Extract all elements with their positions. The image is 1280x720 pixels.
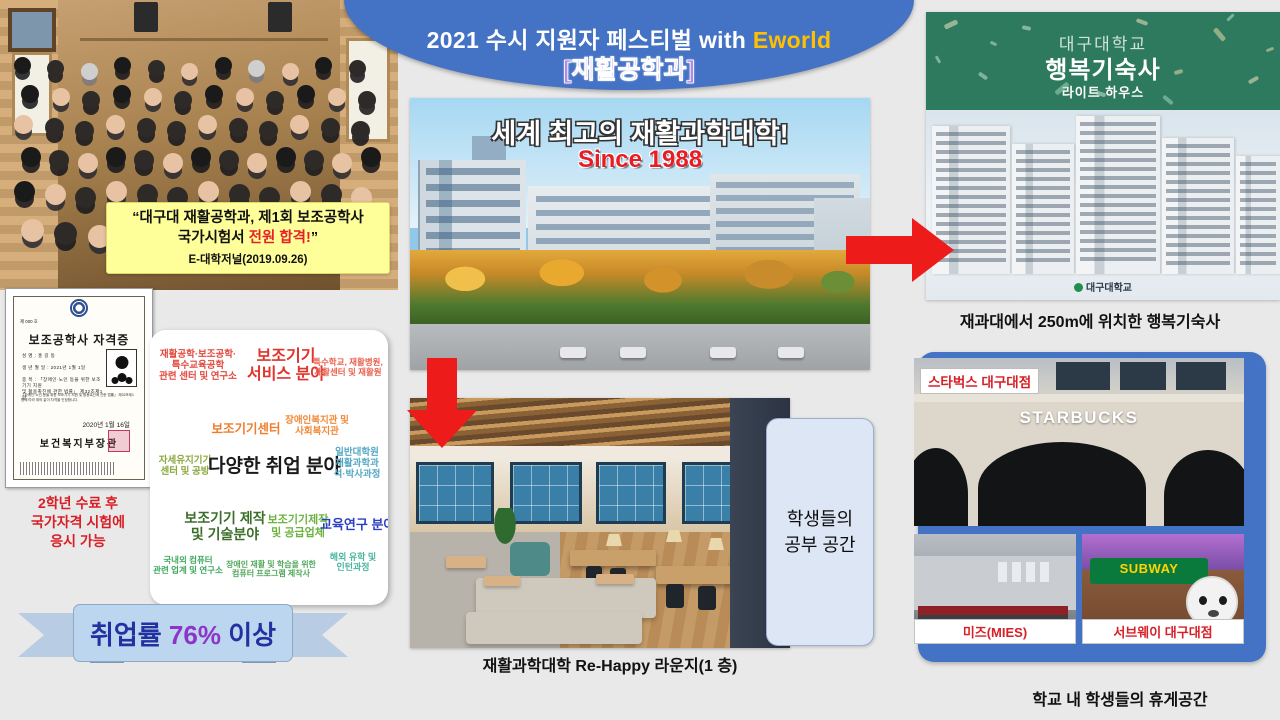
student-head <box>45 118 64 137</box>
government-emblem-icon <box>70 299 88 317</box>
student-head <box>144 88 162 106</box>
word-cloud-term: 장애인 재활 및 학습을 위한컴퓨터 프로그램 제작사 <box>216 560 326 578</box>
student-head <box>137 118 156 137</box>
news-quote-callout: “대구대 재활공학과, 제1회 보조공학사 국가시험서 전원 합격!” E-대학… <box>106 202 390 274</box>
student-head <box>290 115 309 134</box>
side-table <box>446 556 486 568</box>
dorm-tower <box>1076 116 1160 274</box>
quote-line-2-suffix: ” <box>311 230 318 246</box>
certificate-portrait <box>106 349 137 387</box>
certificate-caption: 2학년 수료 후국가자격 시험에응시 가능 <box>2 494 154 551</box>
student-head <box>259 121 278 140</box>
student-head <box>297 85 315 103</box>
student-head <box>181 63 198 80</box>
ribbon-band: 취업률 76% 이상 <box>73 604 293 662</box>
certificate-title: 보조공학사 자격증 <box>14 331 144 348</box>
student-head <box>266 91 284 109</box>
student-head <box>75 121 94 140</box>
word-cloud-term: 다양한 취업 분야 <box>208 456 330 478</box>
entry-arch <box>1164 450 1244 526</box>
student-head <box>167 121 186 140</box>
word-cloud-term: 교육연구 분야 <box>320 518 388 533</box>
student-head <box>106 181 127 202</box>
student-head <box>78 153 98 173</box>
student-head <box>361 147 381 167</box>
subway-sign-board: SUBWAY <box>1090 558 1208 584</box>
student-head <box>21 147 41 167</box>
student-head <box>198 115 217 134</box>
certificate-body: 제 000 호 보조공학사 자격증 성 명 : 홍 길 동생 년 월 일 : 2… <box>13 296 145 480</box>
student-head <box>82 91 100 109</box>
entry-arch <box>978 442 1146 526</box>
confetti-icon <box>944 19 959 29</box>
mies-window <box>1026 562 1035 582</box>
dorm-logo: 대구대학교 <box>926 279 1280 294</box>
dormitory-caption: 재과대에서 250m에 위치한 행복기숙사 <box>900 308 1280 332</box>
campus-photo: 세계 최고의 재활과학대학! Since 1988 <box>410 98 870 370</box>
upper-window <box>1176 362 1226 390</box>
mies-photo: 미즈(MIES) <box>914 534 1076 644</box>
arrow-right-icon <box>846 216 954 284</box>
study-space-label: 학생들의공부 공간 <box>766 418 874 646</box>
student-head <box>191 147 211 167</box>
starbucks-sign: STARBUCKS <box>914 408 1244 428</box>
quote-source: E-대학저널(2019.09.26) <box>188 251 307 267</box>
chair <box>698 586 716 610</box>
word-cloud-term: 해외 유학 및인턴과정 <box>322 552 384 573</box>
subway-photo: SUBWAY 서브웨이 대구대점 <box>1082 534 1244 644</box>
student-head <box>290 181 311 202</box>
word-cloud-term: 일반대학원재활과학과석·박사과정 <box>326 448 388 481</box>
student-head <box>81 63 98 80</box>
subway-label: 서브웨이 대구대점 <box>1082 619 1244 644</box>
lounge-window <box>510 462 582 524</box>
student-head <box>106 115 125 134</box>
mies-building <box>914 556 1076 610</box>
dorm-tower <box>1236 156 1280 274</box>
picture-frame <box>8 8 56 52</box>
student-head <box>321 118 340 137</box>
official-seal-icon <box>108 430 130 452</box>
title-prefix: 2021 수시 지원자 페스티벌 with <box>427 27 753 53</box>
student-head <box>174 91 192 109</box>
starbucks-label: 스타벅스 대구대점 <box>920 368 1039 394</box>
title-highlight: Eworld <box>753 27 831 53</box>
title-line-1: 2021 수시 지원자 페스티벌 with Eworld <box>427 26 832 55</box>
student-head <box>106 147 126 167</box>
side-table <box>484 576 520 586</box>
certificate-barcode <box>20 462 114 475</box>
word-cloud-term: 특수학교, 재활병원,재활센터 및 재활원 <box>308 358 388 378</box>
ribbon-suffix: 이상 <box>221 620 276 650</box>
student-head <box>304 150 324 170</box>
dorm-subtitle: 라이트 하우스 <box>926 82 1280 101</box>
student-head <box>236 88 254 106</box>
student-head <box>114 57 131 74</box>
university-logo-icon <box>1074 283 1083 292</box>
student-head <box>21 219 44 242</box>
mies-window <box>1012 562 1021 582</box>
certificate-image: 제 000 호 보조공학사 자격증 성 명 : 홍 길 동생 년 월 일 : 2… <box>5 288 153 488</box>
dormitory-banner: 대구대학교 행복기숙사 라이트 하우스 <box>926 12 1280 110</box>
student-head <box>349 60 366 77</box>
lounge-bench <box>466 612 642 644</box>
student-head <box>328 88 346 106</box>
entry-arch <box>914 448 968 526</box>
student-head <box>198 181 219 202</box>
confetti-icon <box>1226 13 1234 21</box>
stores-caption: 학교 내 학생들의 휴게공간 <box>960 686 1280 710</box>
student-head <box>113 85 131 103</box>
slide-title-banner: 2021 수시 지원자 페스티벌 with Eworld [재활공학과] <box>344 0 914 90</box>
student-head <box>247 153 267 173</box>
dormitory-photo: 대구대학교 <box>926 110 1280 300</box>
student-head <box>229 118 248 137</box>
student-head <box>219 150 239 170</box>
mies-window <box>1040 562 1049 582</box>
car <box>620 347 646 358</box>
student-head <box>45 184 66 205</box>
student-head <box>163 153 183 173</box>
student-head <box>47 60 64 77</box>
student-head <box>14 181 35 202</box>
title-line-2: [재활공학과] <box>563 55 695 86</box>
campus-road <box>410 324 870 370</box>
career-word-cloud: 재활공학·보조공학·특수교육공학관련 센터 및 연구소보조기기서비스 분야특수학… <box>150 330 388 605</box>
certificate-field: 성 명 : 홍 길 동 <box>22 353 104 359</box>
certificate-field: 생 년 월 일 : 2021년 1월 1일 <box>22 365 104 371</box>
student-head <box>215 57 232 74</box>
student-head <box>248 60 265 77</box>
dorm-logo-text: 대구대학교 <box>1086 283 1132 294</box>
ribbon-percent: 76% <box>169 620 221 650</box>
student-head <box>54 222 77 245</box>
certificate-number: 제 000 호 <box>20 319 38 325</box>
student-head <box>358 91 376 109</box>
chair <box>666 584 684 608</box>
student-head <box>75 187 96 208</box>
upper-window <box>1056 362 1110 390</box>
student-head <box>134 150 154 170</box>
car <box>560 347 586 358</box>
mies-window <box>998 562 1007 582</box>
student-head <box>21 85 39 103</box>
student-head <box>315 57 332 74</box>
student-head <box>332 153 352 173</box>
word-cloud-term: 재활공학·보조공학·특수교육공학관련 센터 및 연구소 <box>154 350 242 383</box>
car <box>710 347 736 358</box>
dorm-tower <box>1012 144 1074 274</box>
campus-since: Since 1988 <box>410 146 870 174</box>
word-cloud-term: 국내외 컴퓨터관련 업계 및 연구소 <box>152 556 224 576</box>
lounge-window <box>416 462 494 524</box>
word-cloud-term: 장애인복지관 및사회복지관 <box>274 416 360 438</box>
dorm-tower <box>1162 138 1234 274</box>
autumn-trees <box>410 250 870 326</box>
quote-highlight: 전원 합격! <box>249 230 311 246</box>
student-head <box>49 150 69 170</box>
student-head <box>276 147 296 167</box>
student-head <box>282 63 299 80</box>
ribbon-prefix: 취업률 <box>90 620 169 650</box>
study-desk <box>570 550 656 566</box>
student-head <box>52 88 70 106</box>
student-head <box>351 121 370 140</box>
quote-line-2: 국가시험서 전원 합격!” <box>178 229 318 249</box>
employment-rate-text: 취업률 76% 이상 <box>90 615 276 652</box>
sofa-cushion <box>510 542 550 576</box>
certificate-date: 2020년 1월 16일 <box>14 419 130 429</box>
student-head <box>205 85 223 103</box>
upper-window <box>1120 362 1166 390</box>
facade-band <box>914 394 1244 402</box>
certificate-note: 「장애인·노인 등을 위한 보조기기 지원 및 활용촉진에 관한 법률」 제32… <box>21 393 137 404</box>
shelf <box>80 38 328 41</box>
subway-sign-text: SUBWAY <box>1090 561 1208 576</box>
car <box>778 347 804 358</box>
dormitory-image: 대구대학교 행복기숙사 라이트 하우스 대구대학교 <box>926 12 1280 300</box>
speaker-icon <box>134 2 158 32</box>
student-head <box>14 115 33 134</box>
side-table <box>596 574 634 584</box>
dorm-name: 행복기숙사 <box>926 50 1280 85</box>
speaker-icon <box>268 2 292 32</box>
student-head <box>14 57 31 74</box>
arrow-down-icon <box>405 358 479 448</box>
lounge-window <box>596 462 666 524</box>
quote-line-2-prefix: 국가시험서 <box>178 230 249 246</box>
starbucks-photo: STARBUCKS 스타벅스 대구대점 <box>914 358 1244 526</box>
presentation-slide: “대구대 재활공학과, 제1회 보조공학사 국가시험서 전원 합격!” E-대학… <box>0 0 1280 720</box>
quote-line-1: “대구대 재활공학과, 제1회 보조공학사 <box>132 209 364 229</box>
mies-label: 미즈(MIES) <box>914 619 1076 644</box>
employment-rate-ribbon: 취업률 76% 이상 <box>18 600 348 672</box>
student-head <box>148 60 165 77</box>
mies-awning <box>918 606 1068 615</box>
confetti-icon <box>1136 18 1149 26</box>
campus-stores-panel: STARBUCKS 스타벅스 대구대점 미즈(MIES) SUBWAY 서브웨이… <box>918 352 1266 662</box>
lounge-caption: 재활과학대학 Re-Happy 라운지(1 층) <box>410 652 810 676</box>
